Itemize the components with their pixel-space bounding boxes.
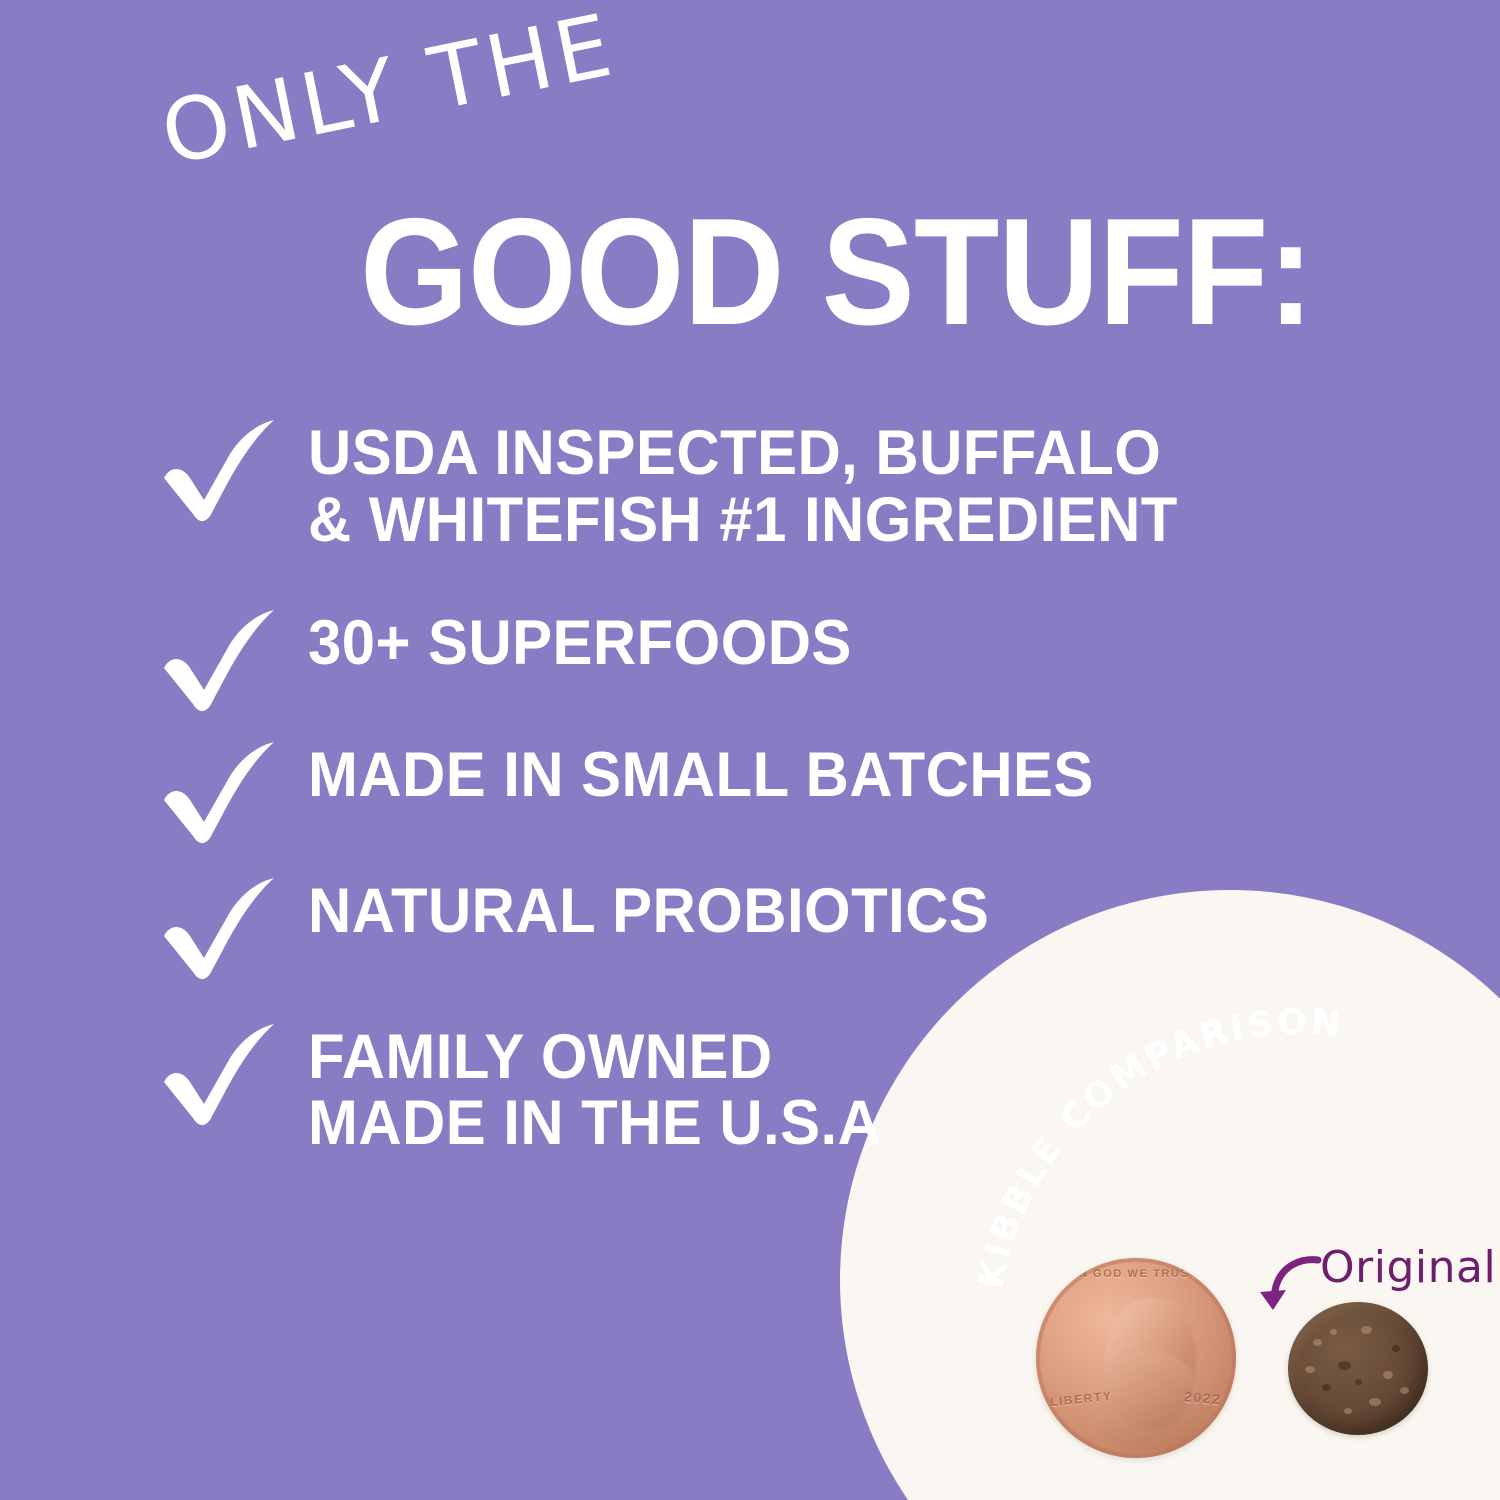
list-item: 30+ SUPERFOODS [0, 610, 1340, 712]
list-item-label: MADE IN SMALL BATCHES [308, 742, 1094, 809]
arc-title-text: KIBBLE COMPARISON [972, 1003, 1346, 1292]
penny-coin-image: IN GOD WE TRUST LIBERTY 2022 [1036, 1258, 1236, 1458]
check-icon [160, 748, 280, 844]
check-icon [160, 1030, 280, 1126]
headline-block: ONLY THE GOOD STUFF: [0, 0, 1500, 380]
list-item: MADE IN SMALL BATCHES [0, 742, 1340, 844]
check-icon [160, 616, 280, 712]
pointer-arrow-icon [1256, 1252, 1326, 1332]
kibble-original-label: Original [1320, 1242, 1496, 1293]
list-item-label: NATURAL PROBIOTICS [308, 878, 989, 945]
product-infographic: ONLY THE GOOD STUFF: USDA INSPECTED, BUF… [0, 0, 1500, 1500]
check-icon [160, 426, 280, 522]
list-item-label: USDA INSPECTED, BUFFALO & WHITEFISH #1 I… [308, 420, 1178, 554]
check-icon [160, 884, 280, 980]
list-item: NATURAL PROBIOTICS [0, 878, 1340, 980]
list-item-label: FAMILY OWNED MADE IN THE U.S.A [308, 1024, 881, 1158]
penny-year-text: 2022 [1184, 1388, 1223, 1407]
list-item: USDA INSPECTED, BUFFALO & WHITEFISH #1 I… [0, 420, 1340, 554]
kibble-comparison: KIBBLE COMPARISON IN GOD WE TRUST LIBERT… [940, 1020, 1500, 1500]
penny-motto-text: IN GOD WE TRUST [1046, 1268, 1226, 1280]
headline-line-1: ONLY THE [155, 2, 623, 178]
headline-line-2: GOOD STUFF: [360, 196, 1313, 348]
list-item-label: 30+ SUPERFOODS [308, 610, 852, 677]
